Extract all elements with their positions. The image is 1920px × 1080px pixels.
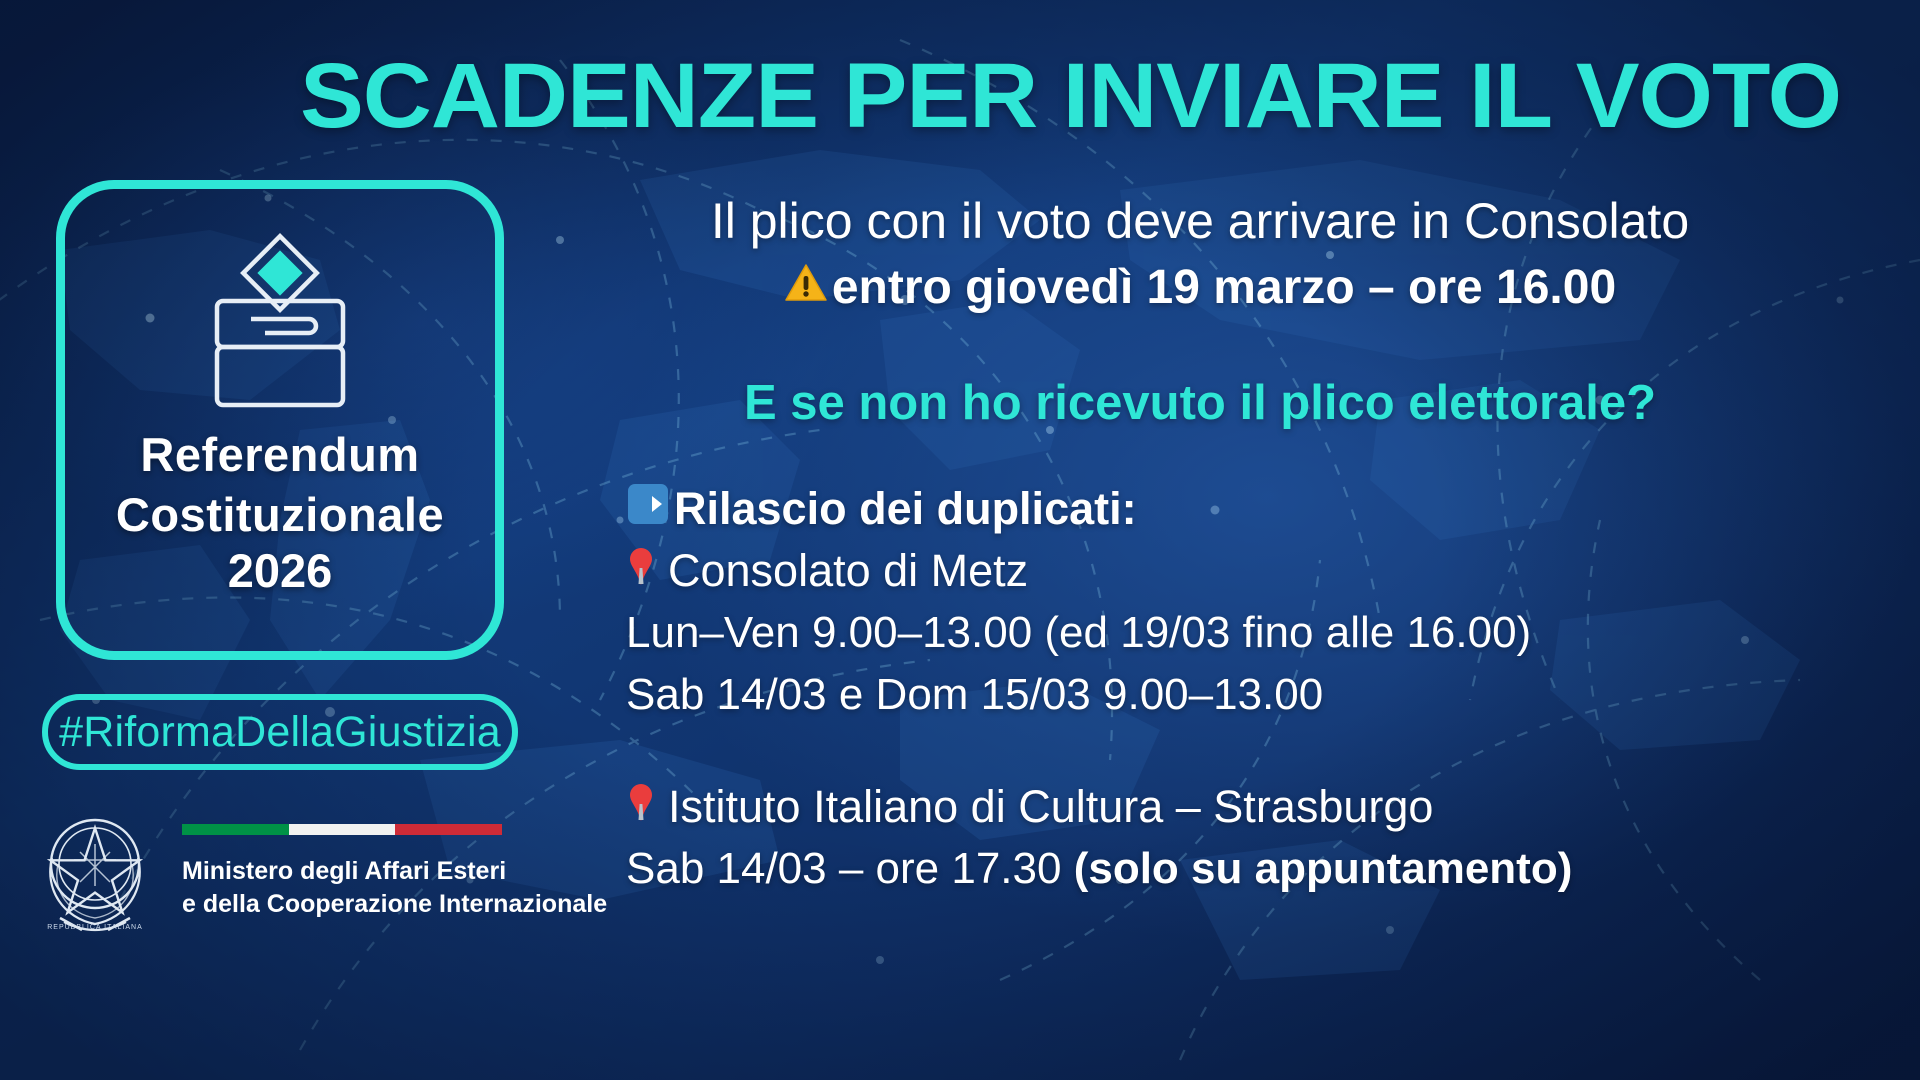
left-branding-panel: Referendum Costituzionale 2026 #RiformaD… [0, 148, 516, 948]
hashtag-pill: #RiformaDellaGiustizia [42, 694, 518, 770]
duplicates-block: Rilascio dei duplicati: Consolato di Met… [520, 478, 1880, 900]
warning-icon [784, 261, 828, 305]
page-title: SCADENZE PER INVIARE IL VOTO [300, 46, 1920, 146]
location-name-1: Istituto Italiano di Cultura – Strasburg… [668, 781, 1433, 832]
right-arrow-icon [626, 482, 670, 526]
svg-text:REPUBBLICA ITALIANA: REPUBBLICA ITALIANA [47, 924, 143, 931]
location-name-row-1: Istituto Italiano di Cultura – Strasburg… [626, 776, 1880, 838]
location-hours-row-1: Sab 14/03 – ore 17.30 (solo su appuntame… [626, 838, 1880, 900]
badge-title-line1: Referendum [140, 427, 419, 483]
italian-republic-emblem: REPUBBLICA ITALIANA [30, 798, 160, 946]
referendum-badge: Referendum Costituzionale 2026 [56, 180, 504, 660]
map-pin-icon [626, 780, 656, 824]
intro-line: Il plico con il voto deve arrivare in Co… [520, 190, 1880, 252]
duplicates-heading-suffix: : [1122, 483, 1137, 534]
italian-flag-bar [182, 824, 502, 835]
duplicates-heading: Rilascio dei duplicati [674, 483, 1122, 534]
location-hours-1-bold: (solo su appuntamento) [1074, 844, 1573, 893]
section-spacer [626, 726, 1880, 776]
location-name-row-0: Consolato di Metz [626, 540, 1880, 602]
location-name-0: Consolato di Metz [668, 545, 1028, 596]
ballot-box-icon [175, 223, 385, 423]
location-hours-1-prefix: Sab 14/03 – ore 17.30 [626, 844, 1074, 893]
main-content: Il plico con il voto deve arrivare in Co… [520, 190, 1880, 900]
badge-year: 2026 [228, 543, 333, 599]
poster-canvas: SCADENZE PER INVIARE IL VOTO Referendum [0, 0, 1920, 1080]
badge-title-line2: Costituzionale [116, 487, 444, 543]
map-pin-icon [626, 544, 656, 588]
hashtag-label: #RiformaDellaGiustizia [59, 708, 501, 757]
question-line: E se non ho ricevuto il plico elettorale… [520, 372, 1880, 434]
duplicates-heading-row: Rilascio dei duplicati: [626, 478, 1880, 540]
location-hours-0-0: Lun–Ven 9.00–13.00 (ed 19/03 fino alle 1… [626, 602, 1880, 664]
deadline-text: entro giovedì 19 marzo – ore 16.00 [832, 261, 1616, 314]
deadline-line: entro giovedì 19 marzo – ore 16.00 [520, 256, 1880, 320]
location-hours-0-1: Sab 14/03 e Dom 15/03 9.00–13.00 [626, 664, 1880, 726]
